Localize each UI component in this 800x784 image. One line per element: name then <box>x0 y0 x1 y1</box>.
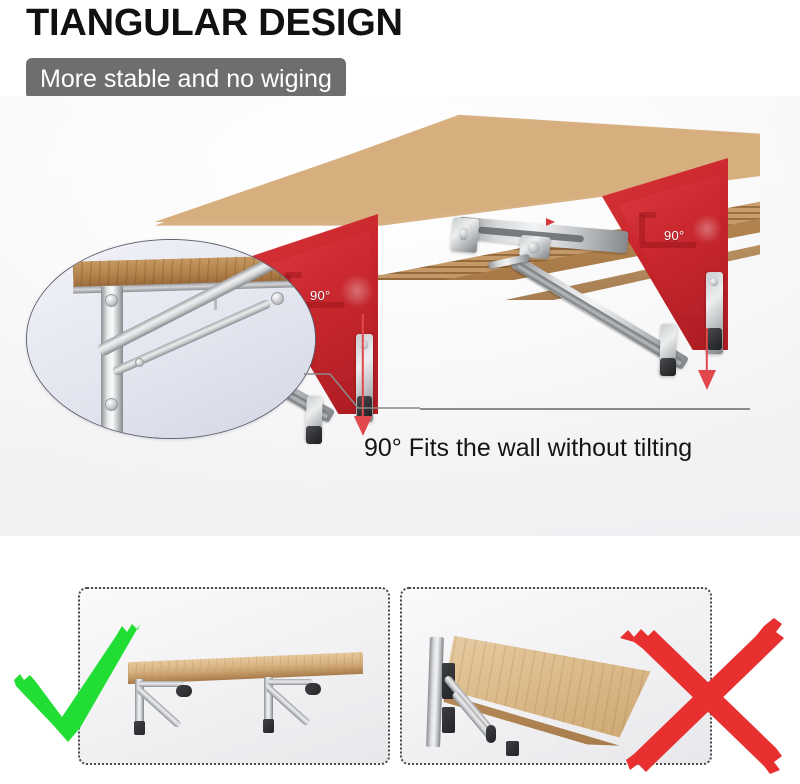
bad-lever <box>486 725 496 743</box>
right-hinge-rivet <box>528 242 539 253</box>
right-direction-arrow <box>546 218 555 226</box>
good-left-foot <box>134 721 145 735</box>
good-panel-inner <box>80 589 388 763</box>
callout-text: 90° Fits the wall without tilting <box>364 433 692 463</box>
magnifier-rivet-bottom <box>105 398 118 411</box>
callout-underline <box>420 408 750 410</box>
good-left-lever <box>176 685 192 697</box>
subtitle-badge: More stable and no wiging <box>26 58 346 99</box>
bad-panel-inner <box>402 589 710 763</box>
right-arrow-stem <box>706 328 708 372</box>
magnifier-rivet-right <box>271 292 284 305</box>
right-plate-hook <box>639 214 645 244</box>
bad-foot <box>506 741 519 756</box>
right-foot-cap <box>660 358 676 376</box>
good-example-panel <box>78 587 390 765</box>
good-right-foot <box>263 719 274 733</box>
good-right-lever <box>305 683 321 695</box>
magnifier-rivet-top <box>105 294 118 307</box>
right-plate-highlight <box>692 214 722 244</box>
callout-leader-line <box>300 356 420 436</box>
right-angle-label: 90° <box>664 228 685 243</box>
product-feature-image: TIANGULAR DESIGN More stable and no wigi… <box>0 0 800 784</box>
detail-magnifier-oval <box>26 239 316 439</box>
magnifier-rivet-mid <box>135 358 144 367</box>
right-plate-hook-top <box>639 212 656 218</box>
magnifier-vertical-plate <box>101 286 123 438</box>
bad-example-panel <box>400 587 712 765</box>
bad-bracket-slot-lower <box>442 707 455 733</box>
leader-polyline <box>304 374 420 408</box>
right-down-arrow <box>698 328 716 390</box>
right-rail-rivet <box>710 278 718 286</box>
right-arm-end-slot <box>460 228 467 240</box>
right-arrow-head <box>698 370 716 390</box>
page-title: TIANGULAR DESIGN <box>26 0 403 46</box>
subtitle-text: More stable and no wiging <box>40 65 332 93</box>
